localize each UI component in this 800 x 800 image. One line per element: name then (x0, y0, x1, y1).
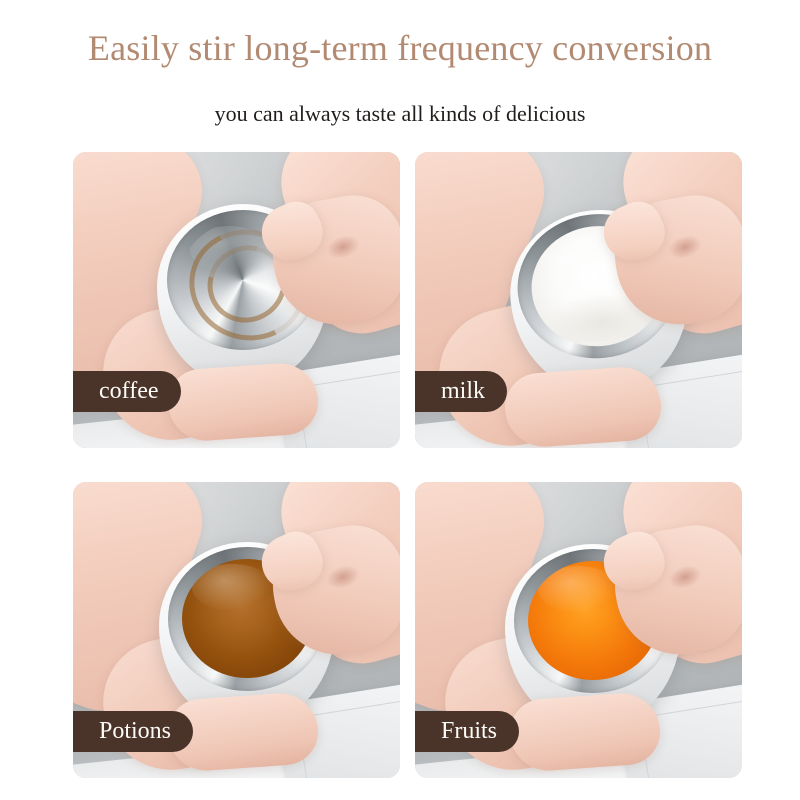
beverage-panel-grid: coffee (73, 152, 742, 778)
panel-label-potions: Potions (73, 711, 193, 752)
liquid-highlight (192, 564, 273, 612)
panel-label-coffee: coffee (73, 371, 181, 412)
page-subtitle: you can always taste all kinds of delici… (0, 100, 800, 128)
panel-label-milk: milk (415, 371, 507, 412)
beverage-panel-coffee[interactable]: coffee (73, 152, 400, 448)
panel-label-fruits: Fruits (415, 711, 519, 752)
left-hand-fingers (166, 361, 321, 443)
beverage-panel-potions[interactable]: Potions (73, 482, 400, 778)
header: Easily stir long-term frequency conversi… (0, 0, 800, 150)
left-hand-fingers (508, 691, 663, 773)
page-title: Easily stir long-term frequency conversi… (0, 26, 800, 70)
beverage-panel-milk[interactable]: milk (415, 152, 742, 448)
left-hand-fingers (503, 365, 664, 448)
beverage-panel-fruits[interactable]: Fruits (415, 482, 742, 778)
